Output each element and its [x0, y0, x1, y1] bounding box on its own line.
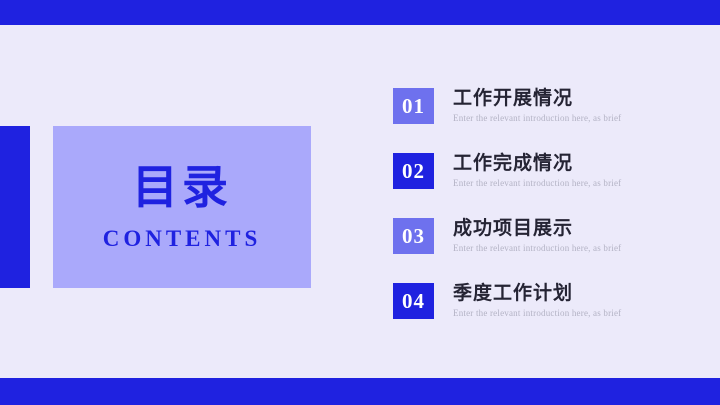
item-subtitle: Enter the relevant introduction here, as…: [453, 176, 621, 190]
item-heading: 季度工作计划: [453, 283, 621, 304]
item-text-block: 成功项目展示 Enter the relevant introduction h…: [453, 218, 621, 255]
item-text-block: 工作完成情况 Enter the relevant introduction h…: [453, 153, 621, 190]
item-text-block: 工作开展情况 Enter the relevant introduction h…: [453, 88, 621, 125]
item-number-badge: 04: [393, 283, 434, 319]
item-heading: 工作开展情况: [453, 88, 621, 109]
item-text-block: 季度工作计划 Enter the relevant introduction h…: [453, 283, 621, 320]
item-heading: 工作完成情况: [453, 153, 621, 174]
page-title-en: CONTENTS: [103, 227, 262, 250]
list-item[interactable]: 03 成功项目展示 Enter the relevant introductio…: [393, 218, 693, 254]
list-item[interactable]: 02 工作完成情况 Enter the relevant introductio…: [393, 153, 693, 189]
list-item[interactable]: 01 工作开展情况 Enter the relevant introductio…: [393, 88, 693, 124]
item-subtitle: Enter the relevant introduction here, as…: [453, 306, 621, 320]
item-number-badge: 02: [393, 153, 434, 189]
page-title-cn: 目录: [132, 165, 232, 211]
slide-canvas: 目录 CONTENTS 01 工作开展情况 Enter the relevant…: [0, 0, 720, 405]
left-accent-bar: [0, 126, 30, 288]
item-heading: 成功项目展示: [453, 218, 621, 239]
list-item[interactable]: 04 季度工作计划 Enter the relevant introductio…: [393, 283, 693, 319]
item-subtitle: Enter the relevant introduction here, as…: [453, 241, 621, 255]
item-number-badge: 03: [393, 218, 434, 254]
item-number-badge: 01: [393, 88, 434, 124]
title-panel: 目录 CONTENTS: [53, 126, 311, 288]
top-accent-bar: [0, 0, 720, 25]
contents-list: 01 工作开展情况 Enter the relevant introductio…: [393, 88, 693, 319]
bottom-accent-bar: [0, 378, 720, 405]
item-subtitle: Enter the relevant introduction here, as…: [453, 111, 621, 125]
